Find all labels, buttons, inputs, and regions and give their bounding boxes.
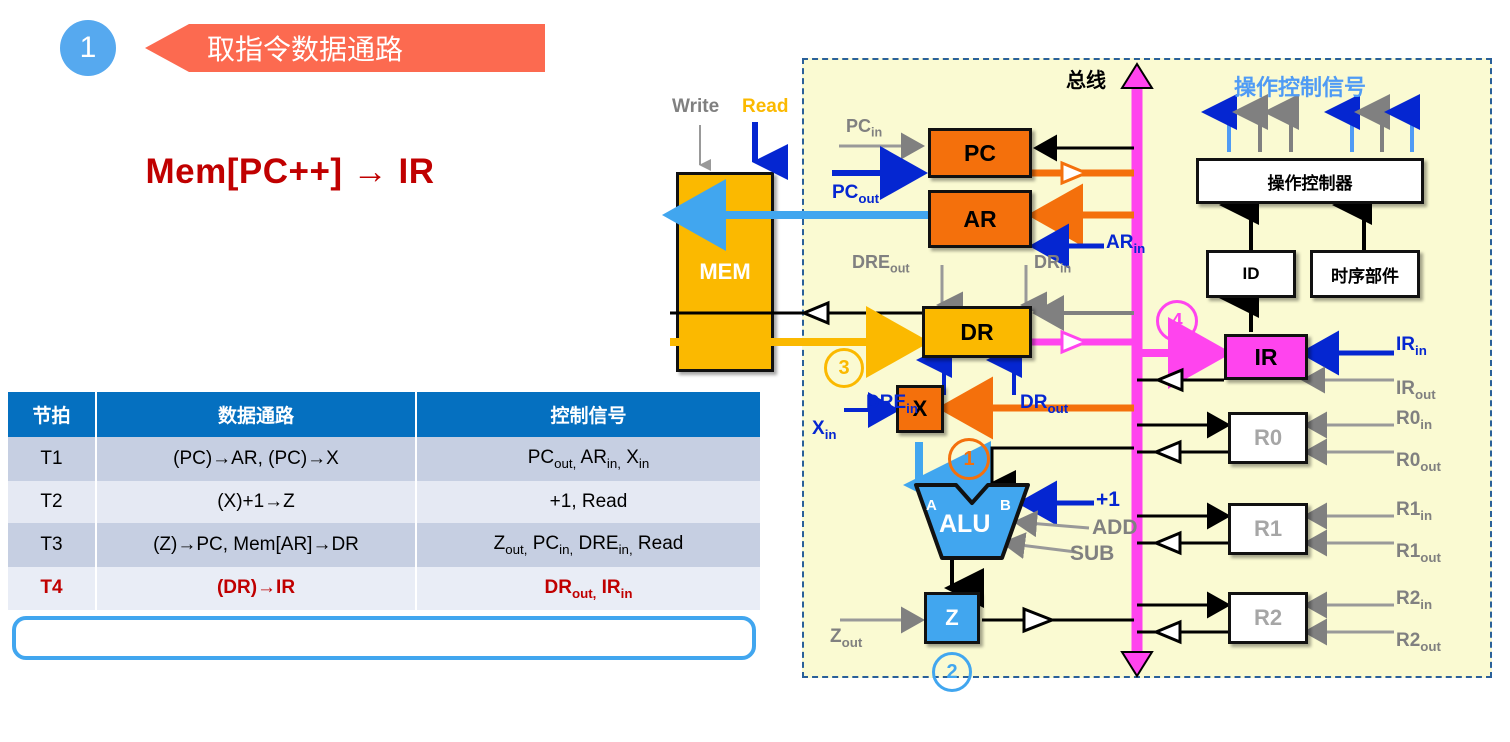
ir-label: IR bbox=[1255, 344, 1278, 371]
sub-label: SUB bbox=[1070, 542, 1114, 566]
dre-out-label: DREout bbox=[852, 252, 910, 276]
r1-label: R1 bbox=[1254, 516, 1282, 542]
dr-in-label: DRin bbox=[1034, 252, 1071, 276]
r0-label: R0 bbox=[1254, 425, 1282, 451]
marker-1: 1 bbox=[948, 438, 990, 480]
r2-block: R2 bbox=[1228, 592, 1308, 644]
plus-one-label: +1 bbox=[1096, 488, 1120, 512]
ar-label: AR bbox=[963, 206, 996, 233]
r0-in-label: R0in bbox=[1396, 408, 1432, 432]
z-out-label: Zout bbox=[830, 626, 862, 650]
alu-port-a-label: A bbox=[926, 497, 937, 514]
id-label: ID bbox=[1243, 264, 1260, 284]
ir-block: IR bbox=[1224, 334, 1308, 380]
add-label: ADD bbox=[1092, 516, 1138, 540]
pc-out-label: PCout bbox=[832, 182, 879, 206]
r1-in-label: R1in bbox=[1396, 499, 1432, 523]
ar-in-label: ARin bbox=[1106, 232, 1145, 256]
r2-out-label: R2out bbox=[1396, 630, 1441, 654]
pc-in-label: PCin bbox=[846, 116, 882, 140]
x-in-label: Xin bbox=[812, 418, 837, 442]
ar-block: AR bbox=[928, 190, 1032, 248]
r0-out-label: R0out bbox=[1396, 450, 1441, 474]
pc-label: PC bbox=[964, 140, 996, 167]
timing-block: 时序部件 bbox=[1310, 250, 1420, 298]
controller-block: 操作控制器 bbox=[1196, 158, 1424, 204]
dr-block: DR bbox=[922, 306, 1032, 358]
z-block: Z bbox=[924, 592, 980, 644]
marker-2: 2 bbox=[932, 652, 972, 692]
id-block: ID bbox=[1206, 250, 1296, 298]
control-signal-label: 操作控制信号 bbox=[1234, 70, 1366, 102]
controller-label: 操作控制器 bbox=[1268, 169, 1353, 194]
r1-out-label: R1out bbox=[1396, 541, 1441, 565]
marker-4: 4 bbox=[1156, 300, 1198, 342]
datapath-diagram: 总线 操作控制信号 PC AR DR X Z ALU A B IR R0 R1 … bbox=[802, 58, 1492, 678]
dre-in-label: DREin bbox=[866, 392, 918, 416]
marker-3: 3 bbox=[824, 348, 864, 388]
z-label: Z bbox=[945, 605, 958, 631]
r2-label: R2 bbox=[1254, 605, 1282, 631]
ir-out-label: IRout bbox=[1396, 378, 1436, 402]
bus-label: 总线 bbox=[1066, 64, 1106, 93]
r1-block: R1 bbox=[1228, 503, 1308, 555]
alu-label: ALU bbox=[939, 510, 990, 539]
dr-out-label: DRout bbox=[1020, 392, 1068, 416]
r0-block: R0 bbox=[1228, 412, 1308, 464]
pc-block: PC bbox=[928, 128, 1032, 178]
timing-label: 时序部件 bbox=[1331, 262, 1399, 287]
diagram-wires bbox=[804, 60, 1494, 680]
r2-in-label: R2in bbox=[1396, 588, 1432, 612]
dr-label: DR bbox=[960, 319, 993, 346]
alu-port-b-label: B bbox=[1000, 497, 1011, 514]
ir-in-label: IRin bbox=[1396, 334, 1427, 358]
